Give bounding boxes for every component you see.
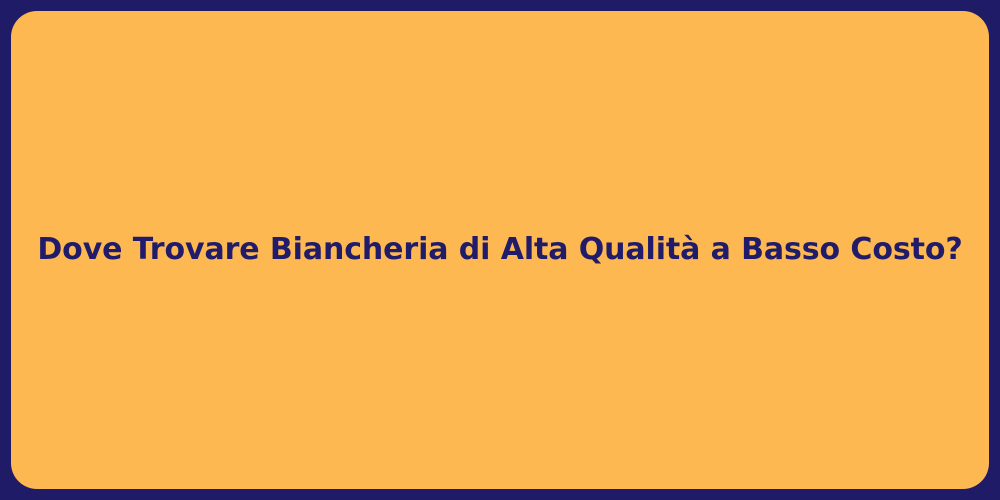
headline-container: Dove Trovare Biancheria di Alta Qualità …: [11, 231, 989, 269]
page-title: Dove Trovare Biancheria di Alta Qualità …: [37, 231, 962, 269]
banner-card: Dove Trovare Biancheria di Alta Qualità …: [11, 11, 989, 489]
banner-frame: Dove Trovare Biancheria di Alta Qualità …: [0, 0, 1000, 500]
